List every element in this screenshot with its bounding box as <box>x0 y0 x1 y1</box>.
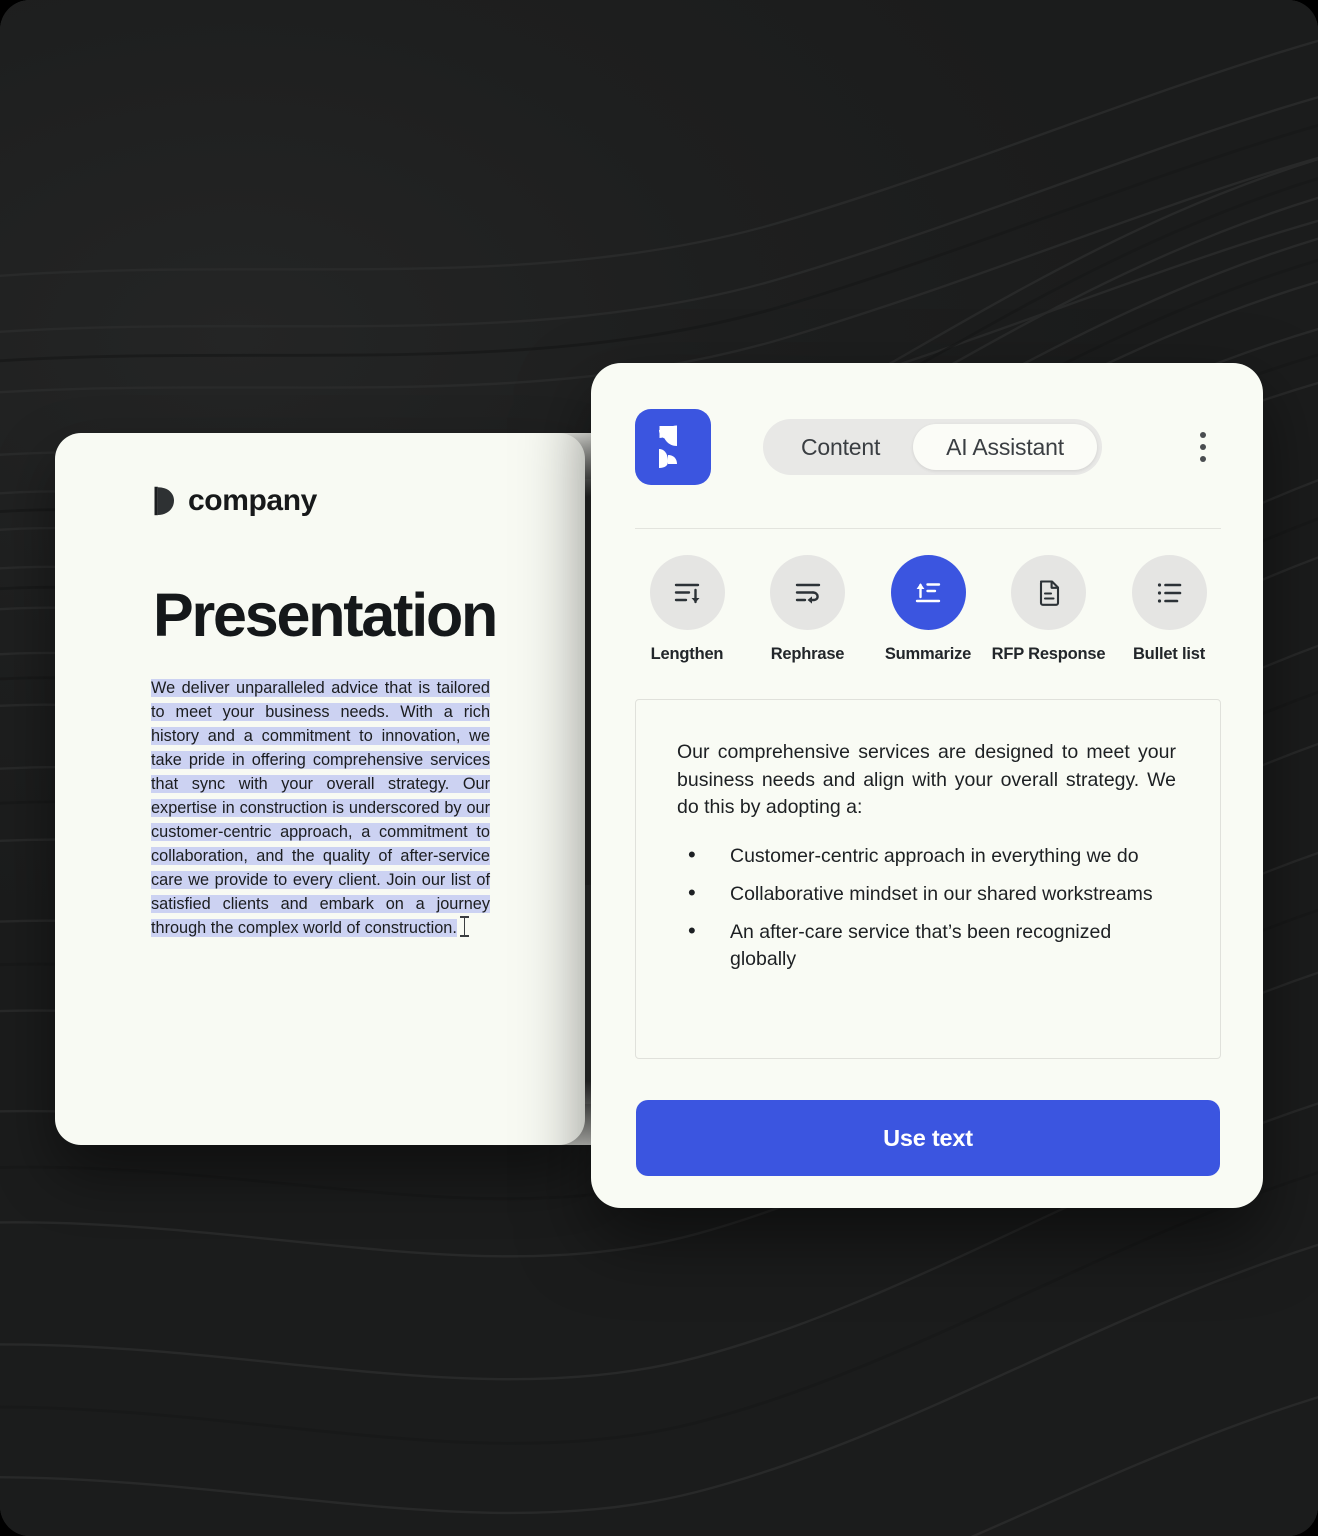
tool-lengthen-circle <box>650 555 725 630</box>
text-cursor-icon <box>460 916 469 937</box>
tool-summarize-circle <box>891 555 966 630</box>
kebab-menu-icon[interactable] <box>1185 424 1221 470</box>
company-mark-icon <box>153 486 175 516</box>
tool-rephrase-label: Rephrase <box>771 645 845 664</box>
document-card: company Presentation We deliver unparall… <box>55 433 585 1145</box>
ai-assistant-panel: Content AI Assistant <box>591 363 1263 1208</box>
kebab-dot <box>1200 444 1206 450</box>
summarize-icon <box>911 576 945 610</box>
tool-rfp-response[interactable]: RFP Response <box>993 555 1105 664</box>
document-logo: company <box>153 484 317 518</box>
tool-rfp-response-label: RFP Response <box>992 645 1106 664</box>
app-stage: company Presentation We deliver unparall… <box>0 0 1318 1536</box>
tool-rephrase[interactable]: Rephrase <box>752 555 864 664</box>
app-logo-icon[interactable] <box>635 409 711 485</box>
rephrase-icon <box>791 576 825 610</box>
document-logo-text: company <box>188 484 317 518</box>
bullet-list-icon <box>1152 576 1186 610</box>
header-divider <box>635 528 1221 529</box>
document-body-text[interactable]: We deliver unparalleled advice that is t… <box>151 676 490 940</box>
lengthen-icon <box>670 576 704 610</box>
tool-lengthen[interactable]: Lengthen <box>631 555 743 664</box>
list-item: An after-care service that’s been recogn… <box>677 919 1176 973</box>
rfp-response-document-icon <box>1032 576 1066 610</box>
tool-bullet-list[interactable]: Bullet list <box>1113 555 1225 664</box>
tool-summarize-label: Summarize <box>885 645 971 664</box>
ai-output-box[interactable]: Our comprehensive services are designed … <box>635 699 1221 1059</box>
tool-rfp-response-circle <box>1011 555 1086 630</box>
list-item: Collaborative mindset in our shared work… <box>677 881 1176 908</box>
list-item: Customer-centric approach in everything … <box>677 843 1176 870</box>
ai-panel-header: Content AI Assistant <box>635 408 1221 486</box>
tab-content[interactable]: Content <box>768 424 913 470</box>
ai-output-paragraph: Our comprehensive services are designed … <box>677 739 1176 822</box>
tool-summarize[interactable]: Summarize <box>872 555 984 664</box>
tool-rephrase-circle <box>770 555 845 630</box>
tab-ai-assistant[interactable]: AI Assistant <box>913 424 1097 470</box>
kebab-dot <box>1200 432 1206 438</box>
document-title: Presentation <box>153 585 496 646</box>
document-highlighted-text: We deliver unparalleled advice that is t… <box>151 679 490 937</box>
use-text-button[interactable]: Use text <box>636 1100 1220 1176</box>
ai-tool-row: Lengthen Rephrase <box>631 555 1225 664</box>
kebab-dot <box>1200 456 1206 462</box>
tool-lengthen-label: Lengthen <box>651 645 724 664</box>
panel-tabs: Content AI Assistant <box>763 419 1102 475</box>
tool-bullet-list-label: Bullet list <box>1133 645 1205 664</box>
ai-output-bullet-list: Customer-centric approach in everything … <box>677 843 1176 973</box>
tool-bullet-list-circle <box>1132 555 1207 630</box>
